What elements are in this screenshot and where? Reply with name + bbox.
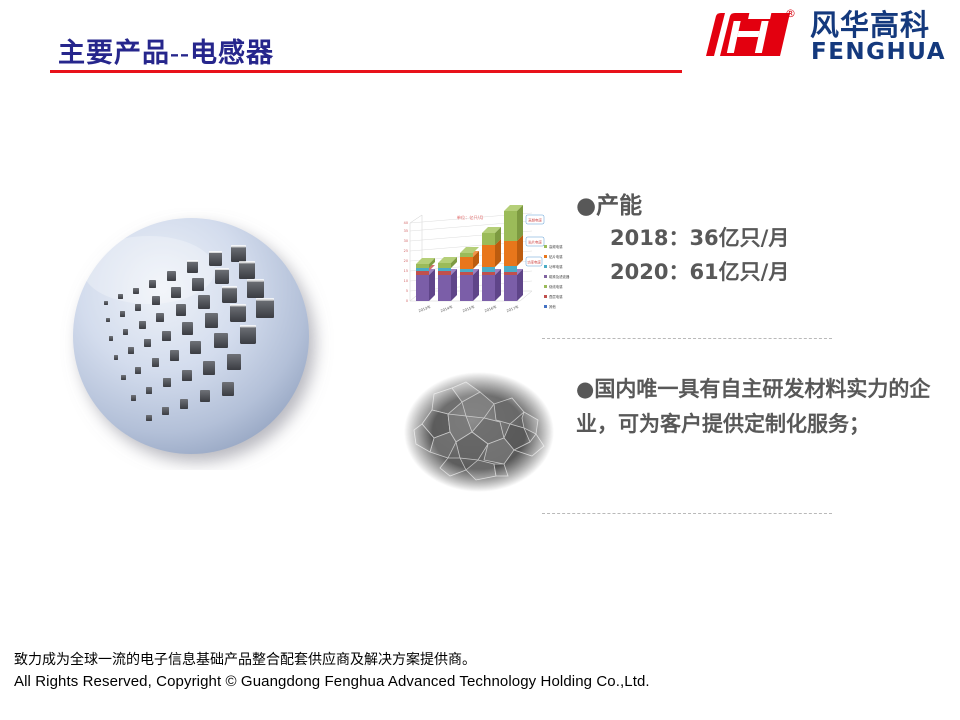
svg-text:35: 35 <box>404 229 408 233</box>
svg-text:30: 30 <box>404 239 408 243</box>
svg-text:高频电感: 高频电感 <box>549 244 563 249</box>
divider-bottom <box>542 513 832 514</box>
svg-text:高频电感: 高频电感 <box>528 218 542 223</box>
svg-text:单位：亿只/月: 单位：亿只/月 <box>457 214 484 221</box>
company-logo: ® 风华高科 FENGHUA <box>692 8 944 66</box>
capacity-line-2020: 2020：61亿只/月 <box>576 255 948 289</box>
svg-text:15: 15 <box>404 269 408 273</box>
rnd-text-label: 国内唯一具有自主研发材料实力的企业，可为客户提供定制化服务； <box>576 377 930 436</box>
title-underline-rule <box>50 70 682 73</box>
svg-text:20: 20 <box>404 259 408 263</box>
capacity-line-2018: 2018：36亿只/月 <box>576 221 948 255</box>
footer-slogan-cn: 致力成为全球一流的电子信息基础产品整合配套供应商及解决方案提供商。 <box>14 650 946 671</box>
svg-text:其他: 其他 <box>549 304 556 309</box>
svg-text:0: 0 <box>406 299 408 303</box>
svg-text:5: 5 <box>406 289 408 293</box>
svg-text:功率电感: 功率电感 <box>527 260 541 265</box>
page-title: 主要产品--电感器 <box>58 31 274 70</box>
capacity-bar-chart: 0 5 10 15 20 25 30 35 40 单位：亿只/月 <box>392 203 578 325</box>
svg-text:功率电感: 功率电感 <box>549 264 563 269</box>
registered-trademark-icon: ® <box>785 8 796 19</box>
svg-text:叠层电感: 叠层电感 <box>549 294 563 299</box>
footer-copyright-en: All Rights Reserved, Copyright © Guangdo… <box>14 671 946 694</box>
divider-top <box>542 338 832 339</box>
capacity-bullet-icon: ● <box>576 193 596 219</box>
svg-text:10: 10 <box>404 279 408 283</box>
svg-text:磁珠及滤波器: 磁珠及滤波器 <box>549 274 570 279</box>
capacity-heading-label: 产能 <box>596 193 642 219</box>
rnd-bullet-icon: ● <box>576 377 594 401</box>
svg-text:贴片电感: 贴片电感 <box>528 240 542 245</box>
svg-text:绕线电感: 绕线电感 <box>549 284 563 289</box>
svg-text:40: 40 <box>404 221 408 225</box>
slide-footer: 致力成为全球一流的电子信息基础产品整合配套供应商及解决方案提供商。 All Ri… <box>14 650 946 694</box>
capacity-text-block: ●产能 2018：36亿只/月 2020：61亿只/月 <box>576 192 948 289</box>
svg-text:25: 25 <box>404 249 408 253</box>
ferrite-material-sem-micrograph <box>404 372 554 492</box>
svg-text:贴片电感: 贴片电感 <box>549 254 563 259</box>
capacity-heading: ●产能 <box>576 192 948 221</box>
rnd-text-block: ●国内唯一具有自主研发材料实力的企业，可为客户提供定制化服务； <box>576 372 944 443</box>
logo-name-cn: 风华高科 <box>810 10 930 40</box>
chip-inductor-tray-photo <box>54 208 336 470</box>
logo-name-en: FENGHUA <box>811 41 946 64</box>
fenghua-fh-mark-icon <box>692 10 796 60</box>
